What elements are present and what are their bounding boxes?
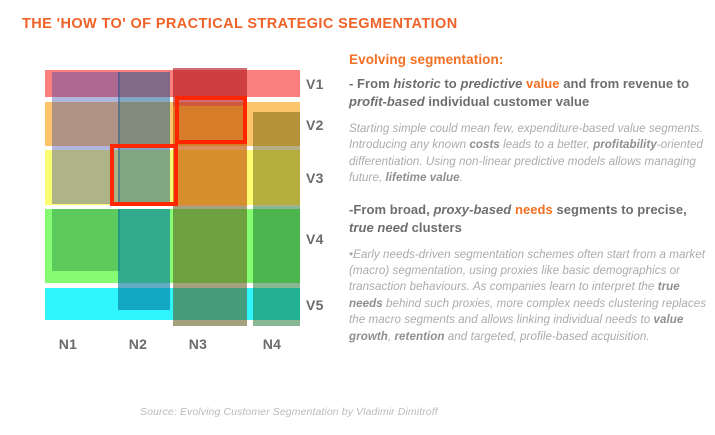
axis-label-v4: V4: [306, 231, 324, 247]
axis-label-v1: V1: [306, 76, 324, 92]
bullet1-text-2: to: [441, 76, 461, 91]
needs-col-band-n4-lower: [253, 206, 300, 326]
para1-bold-lifetime-value: lifetime value: [386, 171, 460, 184]
highlight-box-v2-n3[interactable]: [175, 96, 247, 144]
axis-label-n4: N4: [252, 336, 292, 352]
para2-text-1: •Early needs-driven segmentation schemes…: [349, 248, 705, 294]
highlight-box-v3-n2[interactable]: [110, 144, 178, 206]
bullet2-italic-proxy-based: proxy-based: [433, 202, 511, 217]
explanation-panel: Evolving segmentation: - From historic t…: [349, 52, 711, 359]
bullet2-italic-true-need: true need: [349, 220, 408, 235]
paragraph-value-segmentation: Starting simple could mean few, expendit…: [349, 121, 711, 187]
bullet1-italic-profit-based: profit-based: [349, 94, 425, 109]
bullet1-text-3: and from revenue to: [560, 76, 690, 91]
bullet2-text-3: clusters: [408, 220, 462, 235]
bullet-needs-evolution: -From broad, proxy-based needs segments …: [349, 201, 711, 237]
para1-text-2: leads to a better,: [500, 138, 593, 151]
segmentation-matrix: V1 V2 V3 V4 V5 N1 N2 N3 N4: [0, 0, 340, 340]
bullet2-text-2: segments to precise,: [553, 202, 687, 217]
needs-col-band-n1-lower: [52, 209, 120, 271]
axis-label-n1: N1: [48, 336, 88, 352]
para1-bold-profitability: profitability: [593, 138, 657, 151]
bullet1-italic-historic: historic: [393, 76, 440, 91]
para1-text-4: .: [460, 171, 463, 184]
axis-label-n2: N2: [118, 336, 158, 352]
slide-canvas: THE 'HOW TO' OF PRACTICAL STRATEGIC SEGM…: [0, 0, 715, 435]
bullet1-italic-predictive: predictive: [460, 76, 522, 91]
para1-bold-costs: costs: [469, 138, 500, 151]
evolving-segmentation-heading: Evolving segmentation:: [349, 52, 711, 67]
para2-text-2: behind such proxies, more complex needs …: [349, 297, 706, 326]
bullet-value-evolution: - From historic to predictive value and …: [349, 75, 711, 111]
source-caption: Source: Evolving Customer Segmentation b…: [140, 406, 438, 418]
axis-label-n3: N3: [178, 336, 218, 352]
bullet2-text-1: -From broad,: [349, 202, 433, 217]
bullet1-accent-value: value: [522, 76, 559, 91]
bullet1-text-4: individual customer value: [425, 94, 590, 109]
axis-label-v2: V2: [306, 117, 324, 133]
axis-label-v5: V5: [306, 297, 324, 313]
needs-col-band-n2-lower: [118, 209, 170, 310]
bullet1-text-1: - From: [349, 76, 393, 91]
needs-col-band-n4: [253, 112, 300, 206]
para2-text-4: and targeted, profile-based acquisition.: [445, 330, 650, 343]
needs-col-band-n3-lower: [173, 206, 247, 326]
para2-bold-retention: retention: [394, 330, 444, 343]
paragraph-needs-segmentation: •Early needs-driven segmentation schemes…: [349, 247, 711, 345]
bullet2-accent-needs: needs: [511, 202, 552, 217]
axis-label-v3: V3: [306, 170, 324, 186]
